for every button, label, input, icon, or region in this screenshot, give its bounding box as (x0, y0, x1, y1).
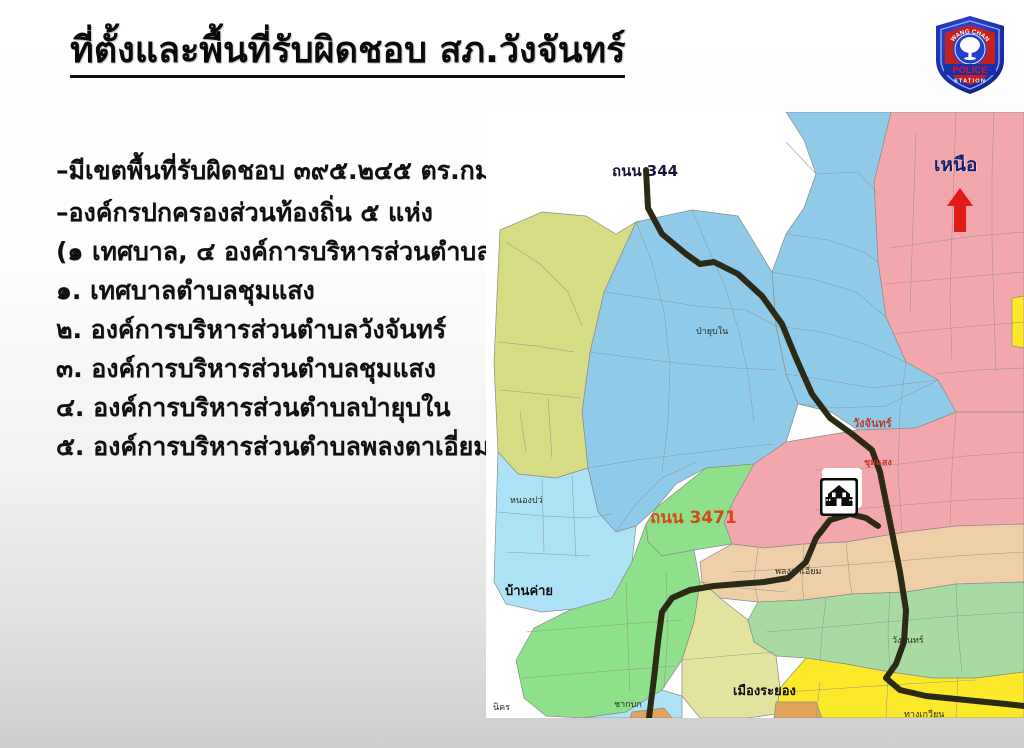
list-item: ๓. องค์การบริหารส่วนตำบลชุมแสง (56, 356, 496, 381)
body-line-local-gov: –องค์กรปกครองส่วนท้องถิ่น ๕ แห่ง (56, 200, 496, 225)
body-text-block: –มีเขตพื้นที่รับผิดชอบ ๓๙๕.๒๔๕ ตร.กม. –อ… (56, 158, 496, 473)
map-svg (486, 112, 1024, 718)
body-line-breakdown: (๑ เทศบาล, ๔ องค์การบริหารส่วนตำบล) (56, 239, 496, 264)
list-item: ๒. องค์การบริหารส่วนตำบลวังจันทร์ (56, 317, 496, 342)
district-map: เหนือ ถนน 344 ถนน 3471 ป่ายุบใน วังจันทร… (486, 112, 1024, 718)
slide-canvas: ที่ตั้งและพื้นที่รับผิดชอบ สภ.วังจันทร์ (0, 0, 1024, 748)
region-orange-patch-b (774, 702, 822, 718)
badge-shield-icon: WANG CHAN POLICE STATION (930, 14, 1010, 96)
list-item: ๕. องค์การบริหารส่วนตำบลพลงตาเอี่ยม (56, 434, 496, 459)
badge-sub-text: STATION (954, 79, 986, 85)
list-item: ๑. เทศบาลตำบลชุมแสง (56, 278, 496, 303)
police-station-marker[interactable] (820, 478, 858, 516)
red-up-arrow-icon (946, 186, 974, 234)
police-station-building-icon[interactable] (820, 478, 858, 516)
badge-main-text: POLICE (952, 65, 987, 76)
body-line-area: –มีเขตพื้นที่รับผิดชอบ ๓๙๕.๒๔๕ ตร.กม. (56, 158, 496, 183)
wang-chan-police-station-badge: WANG CHAN POLICE STATION (930, 14, 1010, 96)
page-title: ที่ตั้งและพื้นที่รับผิดชอบ สภ.วังจันทร์ (70, 33, 625, 78)
list-item: ๔. องค์การบริหารส่วนตำบลป่ายุบใน (56, 395, 496, 420)
